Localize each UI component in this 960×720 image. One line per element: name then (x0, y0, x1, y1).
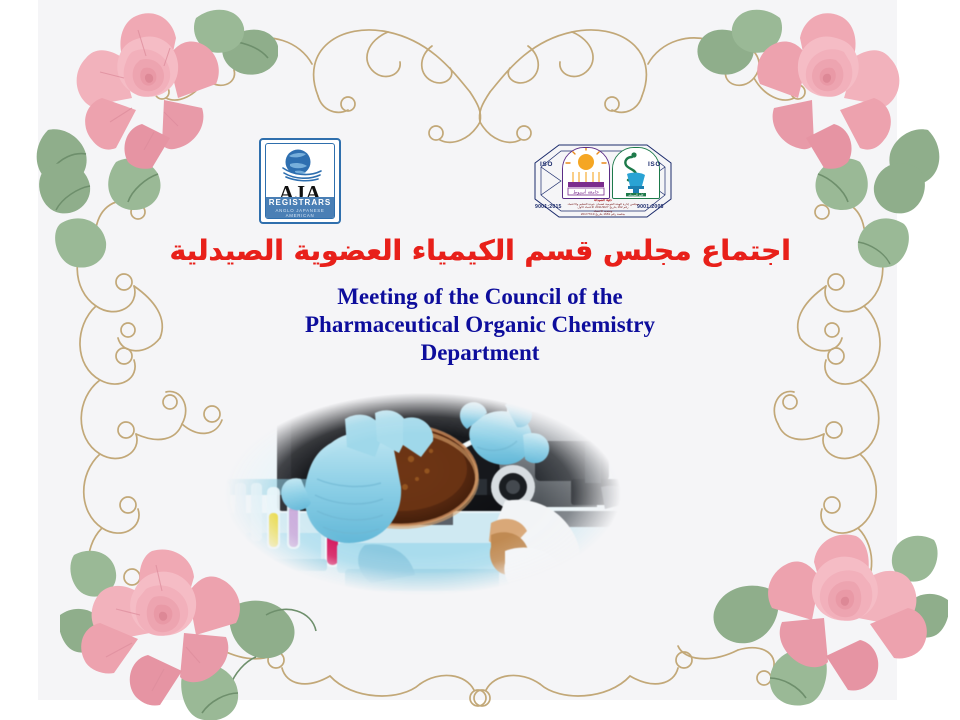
laboratory-photo-illustration (205, 383, 640, 605)
title-english-line-3: Department (0, 339, 960, 367)
crest-right-caption: كلية الصيدلة (628, 193, 644, 197)
slide-title-arabic: اجتماع مجلس قسم الكيمياء العضوية الصيدلي… (0, 234, 960, 267)
globe-icon (277, 148, 323, 182)
crest-left-caption: جامعة أسيوط (573, 189, 599, 196)
aja-registrars-logo: AJA REGISTRARS ANGLO JAPANESE AMERICAN (259, 138, 341, 224)
rose-decoration-bottom-right (690, 530, 948, 720)
seal-line-4: بجلسة رقم 1681 بتاريخ 2017/7/19 (547, 213, 659, 217)
aja-subtitle: REGISTRARS (266, 198, 334, 207)
assiut-university-crest: جامعة أسيوط (562, 147, 610, 199)
aja-logo-inner-frame: AJA REGISTRARS ANGLO JAPANESE AMERICAN (265, 143, 335, 219)
presentation-slide: AJA REGISTRARS ANGLO JAPANESE AMERICAN (0, 0, 960, 720)
title-english-line-1: Meeting of the Council of the (0, 283, 960, 311)
university-quality-seal: جامعة أسيوط كلية الصيدلة ISO ISO 9001:20… (533, 141, 673, 221)
title-english-line-2: Pharmaceutical Organic Chemistry (0, 311, 960, 339)
slide-title-english: Meeting of the Council of the Pharmaceut… (0, 283, 960, 367)
seal-accreditation-text: كلية الصيدلة مجلس إدارة الهيئة القومية ل… (547, 199, 659, 217)
aja-registrars-bar: REGISTRARS ANGLO JAPANESE AMERICAN (266, 197, 334, 218)
aja-tagline: ANGLO JAPANESE AMERICAN (266, 208, 334, 218)
iso-label-right: ISO (648, 161, 661, 168)
iso-label-left: ISO (540, 161, 553, 168)
laboratory-photo (205, 383, 640, 605)
faculty-of-pharmacy-crest: كلية الصيدلة (612, 147, 660, 199)
